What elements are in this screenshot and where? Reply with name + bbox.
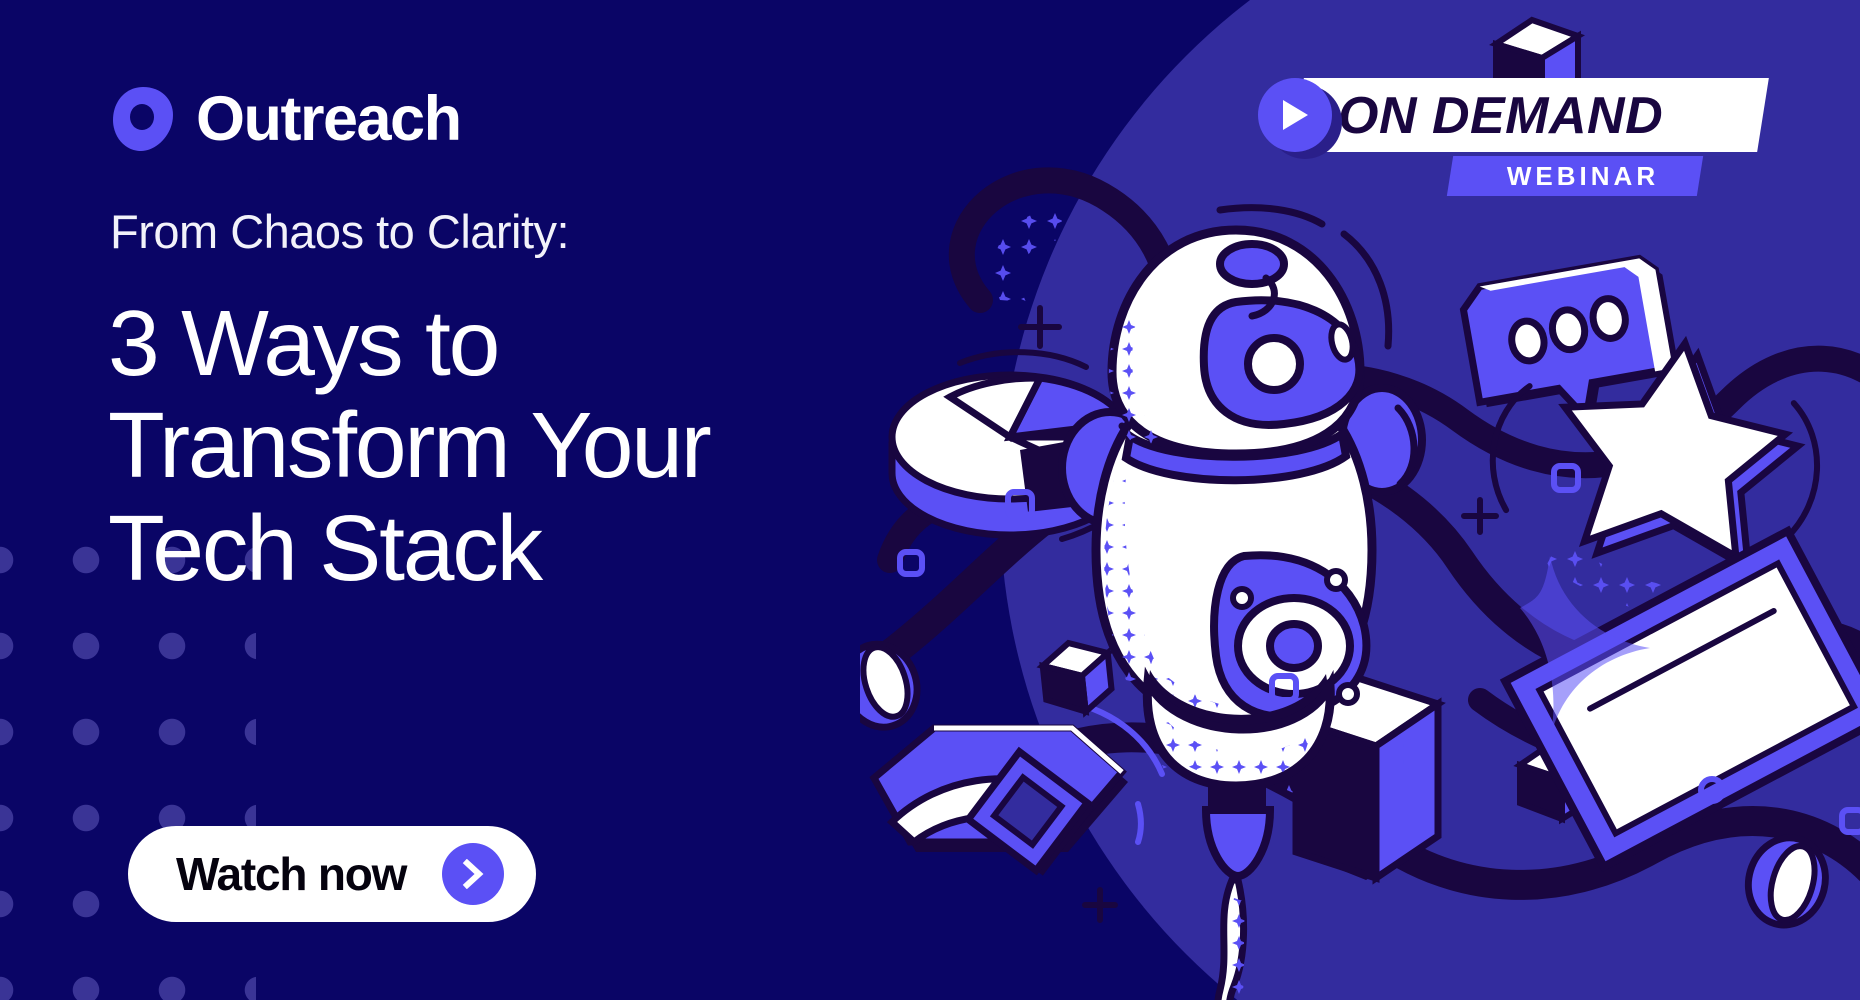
badge-primary-label: ON DEMAND [1338, 80, 1758, 152]
page-title: 3 Ways to Transform Your Tech Stack [108, 292, 868, 599]
promo-banner: Outreach ON DEMAND WEBINAR From Chaos to… [0, 0, 1860, 1000]
brand-logo[interactable]: Outreach [112, 86, 461, 152]
dot-pattern [0, 546, 256, 1000]
watch-now-button[interactable]: Watch now [128, 826, 536, 922]
on-demand-badge: ON DEMAND WEBINAR [1258, 78, 1768, 198]
chevron-right-icon [442, 843, 504, 905]
badge-secondary-label: WEBINAR [1458, 156, 1708, 196]
brand-name: Outreach [196, 88, 461, 151]
watch-now-label: Watch now [176, 847, 406, 901]
play-icon [1258, 78, 1332, 152]
eyebrow-text: From Chaos to Clarity: [110, 206, 569, 258]
outreach-teardrop-logo-icon [112, 86, 174, 152]
